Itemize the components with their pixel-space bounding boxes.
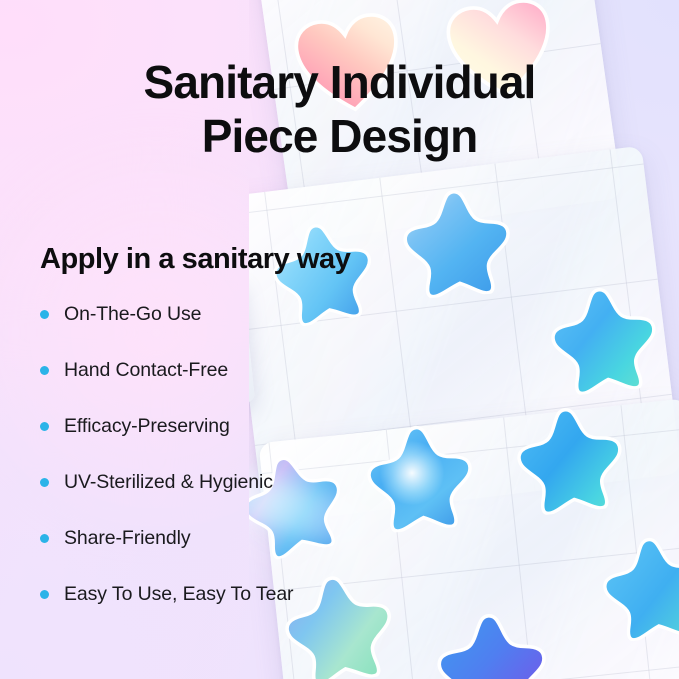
star-sticker-7	[275, 566, 403, 679]
list-item: Hand Contact-Free	[40, 342, 293, 398]
bullet-dot-icon	[40, 590, 49, 599]
star-sticker-3	[544, 281, 664, 398]
feature-label: Hand Contact-Free	[64, 359, 228, 382]
feature-label: UV-Sterilized & Hygienic	[64, 471, 273, 494]
feature-label: Easy To Use, Easy To Tear	[64, 583, 293, 606]
feature-label: Share-Friendly	[64, 527, 190, 550]
bullet-dot-icon	[40, 310, 49, 319]
list-item: Share-Friendly	[40, 510, 293, 566]
star-sticker-8	[431, 608, 552, 679]
page-title: Sanitary Individual Piece Design	[0, 55, 679, 164]
list-item: Efficacy-Preserving	[40, 398, 293, 454]
bullet-dot-icon	[40, 366, 49, 375]
bullet-dot-icon	[40, 478, 49, 487]
product-infographic: Sanitary Individual Piece Design Apply i…	[0, 0, 679, 679]
title-line-2: Piece Design	[42, 109, 637, 163]
list-item: Easy To Use, Easy To Tear	[40, 566, 293, 622]
section-subheading: Apply in a sanitary way	[40, 243, 350, 276]
feature-label: Efficacy-Preserving	[64, 415, 230, 438]
star-sticker-2	[397, 184, 516, 300]
star-sticker-9	[595, 530, 679, 644]
list-item: On-The-Go Use	[40, 286, 293, 342]
feature-list: On-The-Go Use Hand Contact-Free Efficacy…	[40, 286, 293, 622]
star-sticker-5	[361, 419, 480, 534]
bullet-dot-icon	[40, 534, 49, 543]
star-sticker-6	[510, 401, 630, 518]
title-line-1: Sanitary Individual	[42, 55, 637, 109]
feature-label: On-The-Go Use	[64, 303, 201, 326]
bullet-dot-icon	[40, 422, 49, 431]
list-item: UV-Sterilized & Hygienic	[40, 454, 293, 510]
